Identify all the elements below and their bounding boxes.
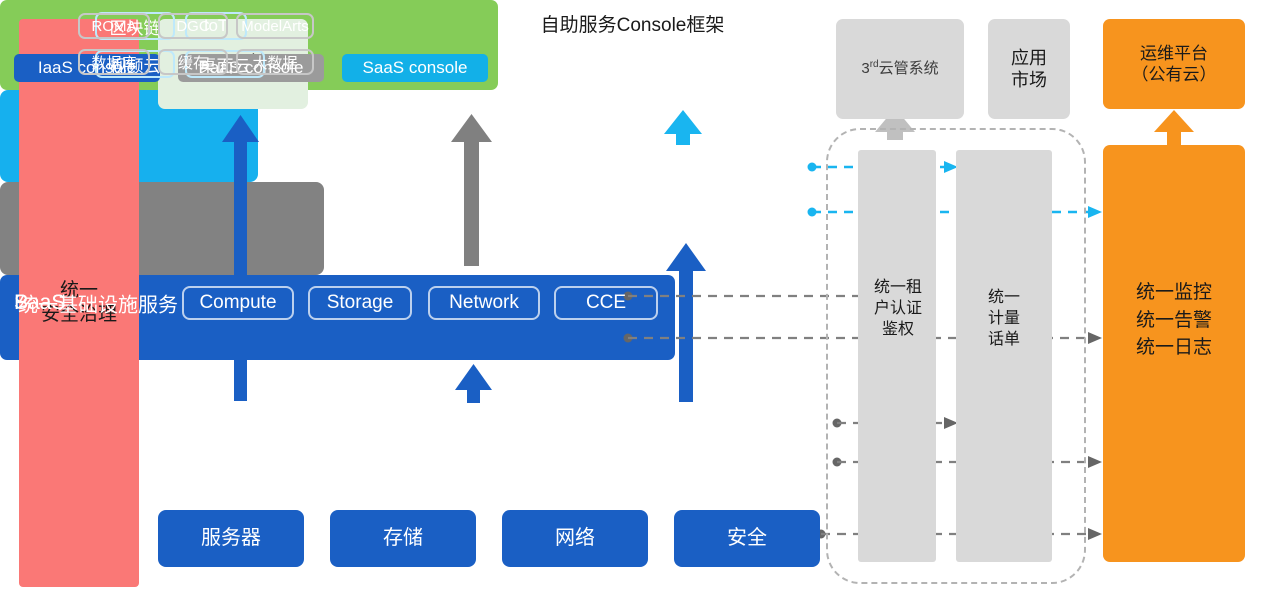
shared-service-column-auth [858, 150, 936, 562]
metering-line-2: 计量 [952, 309, 1056, 330]
shared-service-metering-label: 统一 计量 话单 [952, 288, 1056, 350]
infra-chip-network[interactable]: Network [428, 286, 540, 320]
shared-service-auth-label: 统一租 户认证 鉴权 [852, 278, 944, 340]
ops-platform-box: 运维平台 （公有云） [1103, 19, 1245, 109]
ops-column-label: 统一监控 统一告警 统一日志 [1103, 279, 1245, 362]
auth-line-3: 鉴权 [852, 320, 944, 341]
ops-column-line-1: 统一监控 [1103, 279, 1245, 307]
resource-box-server: 服务器 [158, 510, 304, 567]
metering-line-3: 话单 [952, 330, 1056, 351]
third-cloud-suffix: 云管系统 [879, 60, 939, 77]
arrow-infra-to-paas [455, 364, 492, 403]
ops-platform-line-1: 运维平台 [1132, 43, 1217, 64]
shared-service-column-metering [956, 150, 1052, 562]
resource-box-network: 网络 [502, 510, 648, 567]
paas-chip-dgc[interactable]: DGC [158, 13, 228, 39]
third-cloud-superscript: rd [870, 59, 879, 70]
auth-line-1: 统一租 [852, 278, 944, 299]
third-cloud-label: 3rd云管系统 [861, 59, 938, 79]
third-party-cloud-mgmt-box: 3rd云管系统 [836, 19, 964, 119]
paas-chip-bigdata[interactable]: 大数据 [236, 49, 314, 75]
arrow-ops-column-to-ops-platform [1154, 110, 1194, 146]
infra-chip-cce[interactable]: CCE [554, 286, 658, 320]
ops-monitoring-column: 统一监控 统一告警 统一日志 [1103, 145, 1245, 562]
ops-column-line-3: 统一日志 [1103, 334, 1245, 362]
paas-chip-cache[interactable]: 缓存 [158, 49, 228, 75]
infra-chip-storage[interactable]: Storage [308, 286, 412, 320]
infra-chip-compute[interactable]: Compute [182, 286, 294, 320]
app-market-box: 应用 市场 [988, 19, 1070, 119]
arrow-saas-to-console [664, 110, 702, 145]
app-market-line-1: 应用 [1011, 47, 1047, 70]
paas-chip-roma[interactable]: ROMA [78, 13, 150, 39]
resource-box-security: 安全 [674, 510, 820, 567]
paas-chip-modelarts[interactable]: ModelArts [236, 13, 314, 39]
infrastructure-label: 统一基础设施服务 [18, 288, 178, 317]
saas-console-chip[interactable]: SaaS console [342, 54, 488, 82]
ops-column-line-2: 统一告警 [1103, 307, 1245, 335]
app-market-line-2: 市场 [1011, 69, 1047, 92]
metering-line-1: 统一 [952, 288, 1056, 309]
architecture-diagram: 统一租 户认证 鉴权 统一 计量 话单 统一 安全治理 API网关 自助服务Co… [0, 0, 1265, 605]
ops-platform-line-2: （公有云） [1132, 64, 1217, 85]
paas-chip-database[interactable]: 数据库 [78, 49, 150, 75]
arrow-paas-to-console [451, 114, 492, 266]
third-cloud-prefix: 3 [861, 60, 869, 77]
auth-line-2: 户认证 [852, 299, 944, 320]
resource-box-storage: 存储 [330, 510, 476, 567]
